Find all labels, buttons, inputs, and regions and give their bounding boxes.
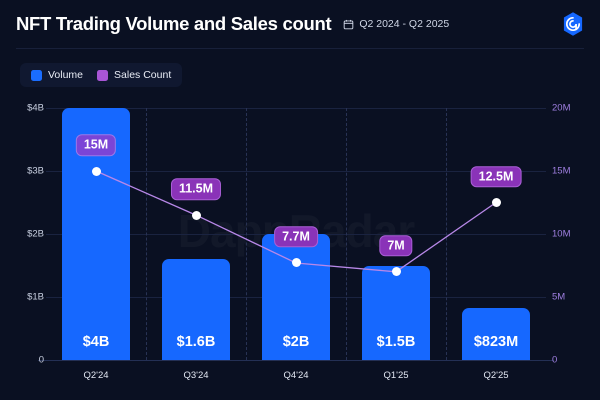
chart-legend: Volume Sales Count — [20, 63, 182, 87]
y-axis-right-tick-label: 20M — [552, 103, 592, 114]
date-range-selector[interactable]: Q2 2024 - Q2 2025 — [343, 18, 449, 30]
calendar-icon — [343, 19, 354, 30]
sales-count-swatch-icon — [97, 70, 108, 81]
y-axis-left-tick-label: $3B — [4, 166, 44, 177]
date-range-label: Q2 2024 - Q2 2025 — [359, 18, 449, 30]
y-axis-left-tick-label: $1B — [4, 292, 44, 303]
x-axis-tick-label: Q3'24 — [183, 370, 208, 381]
x-axis-tick-label: Q1'25 — [383, 370, 408, 381]
volume-swatch-icon — [31, 70, 42, 81]
y-axis-left-tick-label: $4B — [4, 103, 44, 114]
y-axis-right-tick-label: 15M — [552, 166, 592, 177]
line-data-point[interactable] — [492, 198, 501, 207]
legend-item-volume[interactable]: Volume — [31, 69, 83, 81]
line-value-badge: 7.7M — [274, 226, 318, 248]
y-axis-right-tick-label: 5M — [552, 292, 592, 303]
x-axis-tick-label: Q2'25 — [483, 370, 508, 381]
y-axis-right-tick-label: 10M — [552, 229, 592, 240]
y-axis-left-tick-label: $2B — [4, 229, 44, 240]
page-title: NFT Trading Volume and Sales count — [16, 13, 331, 35]
x-axis-tick-label: Q2'24 — [83, 370, 108, 381]
line-value-badge: 7M — [379, 235, 412, 257]
line-value-badge: 15M — [76, 134, 116, 156]
legend-item-sales-count[interactable]: Sales Count — [97, 69, 171, 81]
line-data-point[interactable] — [392, 267, 401, 276]
y-axis-right-tick-label: 0 — [552, 355, 592, 366]
line-data-point[interactable] — [92, 167, 101, 176]
chart-header: NFT Trading Volume and Sales count Q2 20… — [0, 0, 600, 48]
header-divider — [16, 48, 584, 49]
chart-screenshot: NFT Trading Volume and Sales count Q2 20… — [0, 0, 600, 400]
line-data-point[interactable] — [292, 258, 301, 267]
legend-label-sales-count: Sales Count — [114, 69, 171, 81]
x-axis-tick-label: Q4'24 — [283, 370, 308, 381]
axis-baseline — [38, 360, 554, 361]
y-axis-left-tick-label: 0 — [4, 355, 44, 366]
chart-plot-area: DappRadar $4B$1.6B$2B$1.5B$823M15M11.5M7… — [46, 108, 546, 360]
dappradar-logo-icon[interactable] — [560, 11, 586, 37]
legend-label-volume: Volume — [48, 69, 83, 81]
line-value-badge: 12.5M — [471, 166, 522, 188]
line-value-badge: 11.5M — [171, 178, 221, 200]
line-data-point[interactable] — [192, 211, 201, 220]
